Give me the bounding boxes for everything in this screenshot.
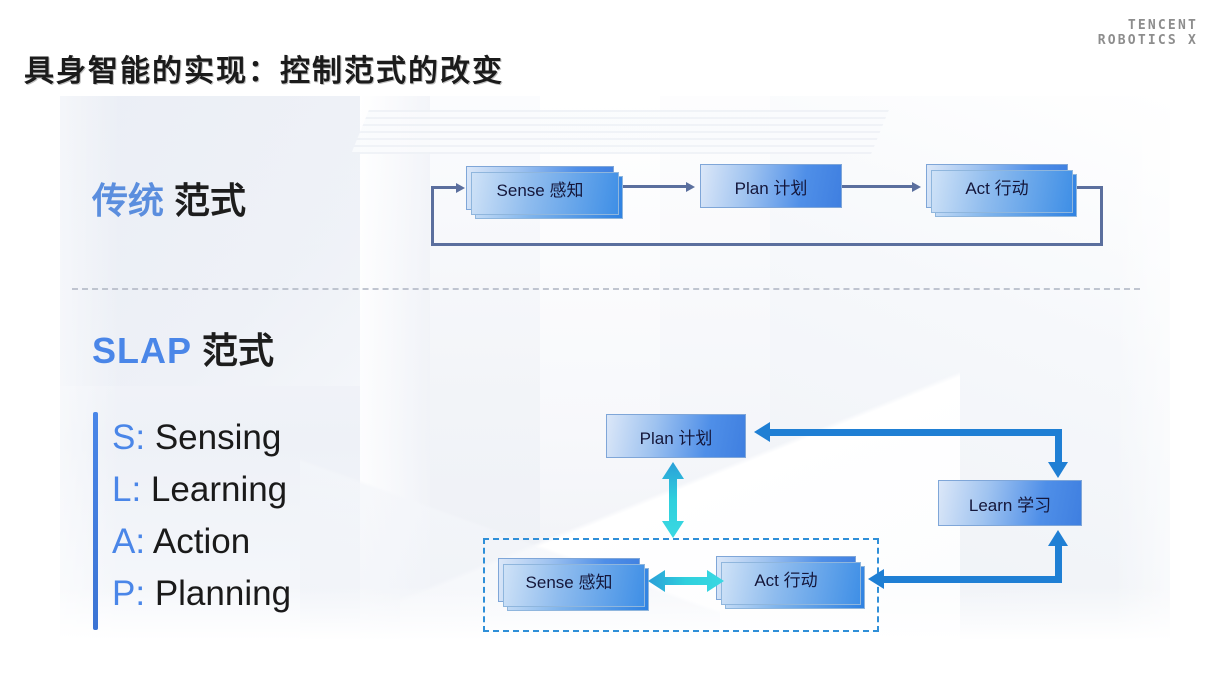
slap-text: Action — [153, 522, 250, 561]
list-item: L: Learning — [112, 464, 291, 516]
slap-act-to-learn-horizontal — [884, 576, 1062, 583]
traditional-loop-into-sense — [431, 186, 459, 189]
section-label-traditional-accent: 传统 — [92, 180, 164, 221]
cyan-horizontal-double-arrow — [648, 566, 724, 596]
slap-list: S: Sensing L: Learning A: Action P: Plan… — [112, 412, 291, 620]
traditional-loop-bottom-horizontal — [431, 243, 1103, 246]
slap-text: Sensing — [155, 418, 281, 457]
section-label-traditional: 传统 范式 — [92, 172, 246, 224]
slap-key: P — [112, 574, 135, 613]
section-label-slap-plain: 范式 — [192, 330, 274, 371]
tencent-robotics-logo: TENCENT ROBOTICS X — [1098, 18, 1198, 49]
node-slap-plan[interactable]: Plan 计划 — [606, 414, 746, 458]
list-item: P: Planning — [112, 568, 291, 620]
slap-sep: : — [135, 418, 154, 457]
node-label: Plan 计划 — [735, 174, 808, 199]
slap-learn-to-plan-vertical — [1055, 429, 1062, 465]
slap-text: Planning — [155, 574, 291, 613]
node-label: Sense 感知 — [526, 568, 613, 593]
traditional-plan-to-act-line — [842, 185, 914, 188]
traditional-arrow-plan-to-act — [912, 182, 921, 192]
background-fade-right — [1114, 96, 1224, 656]
node-slap-sense[interactable]: Sense 感知 — [498, 558, 640, 602]
traditional-arrow-into-sense — [456, 183, 465, 193]
node-traditional-act[interactable]: Act 行动 — [926, 164, 1068, 208]
traditional-sense-to-plan-line — [614, 185, 688, 188]
slap-learn-to-plan-horizontal — [770, 429, 1062, 436]
list-item: S: Sensing — [112, 412, 291, 464]
slap-arrow-into-learn-from-act — [1048, 530, 1068, 546]
slide-canvas: TENCENT ROBOTICS X 具身智能的实现：控制范式的改变 传统 范式… — [0, 0, 1224, 684]
logo-line-1: TENCENT — [1098, 18, 1198, 33]
slap-act-to-learn-vertical — [1055, 544, 1062, 583]
section-label-slap: SLAP 范式 — [92, 322, 274, 374]
slap-sep: : — [135, 522, 153, 561]
slap-sep: : — [131, 470, 150, 509]
traditional-arrow-sense-to-plan — [686, 182, 695, 192]
slap-list-accent-bar — [93, 412, 98, 630]
node-traditional-sense[interactable]: Sense 感知 — [466, 166, 614, 210]
section-label-traditional-plain: 范式 — [164, 180, 246, 221]
page-title: 具身智能的实现：控制范式的改变 — [24, 46, 504, 90]
background-ceiling-slats — [351, 110, 889, 154]
slap-text: Learning — [151, 470, 287, 509]
node-label: Learn 学习 — [969, 491, 1051, 516]
section-label-slap-accent: SLAP — [92, 330, 192, 371]
node-label: Act 行动 — [965, 174, 1028, 199]
slap-sep: : — [135, 574, 154, 613]
cyan-vertical-double-arrow — [658, 462, 688, 538]
traditional-loop-left-vertical — [431, 186, 434, 246]
node-label: Sense 感知 — [497, 176, 584, 201]
slap-key: A — [112, 522, 135, 561]
node-label: Plan 计划 — [640, 424, 713, 449]
section-divider — [72, 288, 1140, 290]
node-traditional-plan[interactable]: Plan 计划 — [700, 164, 842, 208]
node-slap-learn[interactable]: Learn 学习 — [938, 480, 1082, 526]
traditional-loop-right-vertical — [1100, 186, 1103, 246]
node-slap-act[interactable]: Act 行动 — [716, 556, 856, 600]
slap-key: S — [112, 418, 135, 457]
list-item: A: Action — [112, 516, 291, 568]
slap-arrow-into-learn — [1048, 462, 1068, 478]
slap-arrow-into-plan — [754, 422, 770, 442]
node-label: Act 行动 — [754, 566, 817, 591]
logo-line-2: ROBOTICS X — [1098, 33, 1198, 48]
slap-key: L — [112, 470, 131, 509]
slap-arrow-into-act — [868, 569, 884, 589]
